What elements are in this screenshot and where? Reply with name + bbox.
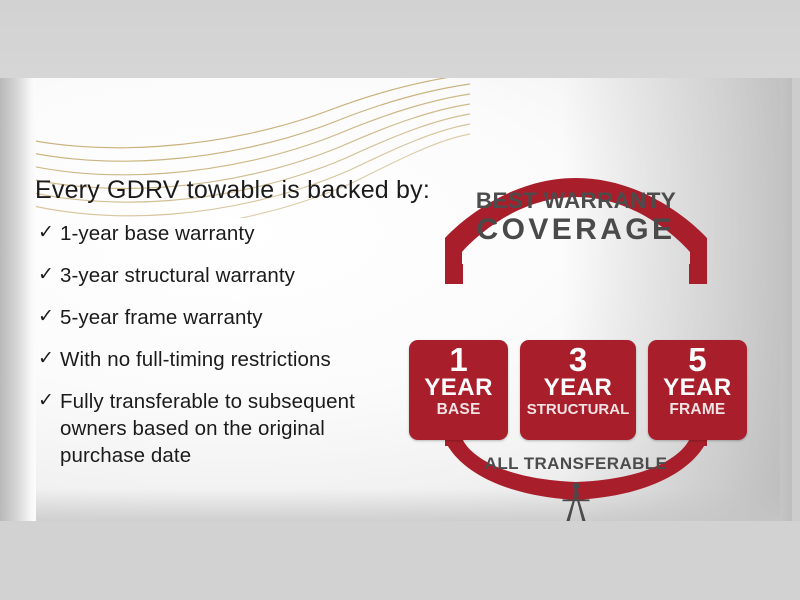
list-item: ✓ With no full-timing restrictions <box>38 346 438 373</box>
warranty-box-unit: YEAR <box>663 376 732 400</box>
warranty-box-number: 5 <box>688 344 706 376</box>
list-item-label: With no full-timing restrictions <box>60 346 331 373</box>
letterbox-top-bar <box>0 0 800 78</box>
list-item-label: Fully transferable to subsequent owners … <box>60 388 412 469</box>
drafting-compass-icon <box>556 480 596 521</box>
image-stage: Every GDRV towable is backed by: ✓ 1-yea… <box>0 0 800 600</box>
warranty-term-boxes: 1 YEAR BASE 3 YEAR STRUCTURAL 5 YEAR FRA… <box>409 340 747 440</box>
warranty-box-frame: 5 YEAR FRAME <box>648 340 747 440</box>
list-item-label: 3-year structural warranty <box>60 262 295 289</box>
checkmark-icon: ✓ <box>38 220 60 246</box>
warranty-box-unit: YEAR <box>544 376 613 400</box>
checkmark-icon: ✓ <box>38 304 60 330</box>
warranty-box-subtitle: FRAME <box>669 400 725 420</box>
warranty-box-number: 1 <box>449 344 467 376</box>
list-item: ✓ 5-year frame warranty <box>38 304 438 331</box>
warranty-text-column: Every GDRV towable is backed by: ✓ 1-yea… <box>0 78 440 521</box>
best-warranty-coverage-badge: BEST WARRANTY COVERAGE 1 YEAR BASE 3 YEA… <box>398 160 754 500</box>
warranty-graphic-panel: Every GDRV towable is backed by: ✓ 1-yea… <box>0 78 792 521</box>
list-item: ✓ 1-year base warranty <box>38 220 438 247</box>
checkmark-icon: ✓ <box>38 346 60 372</box>
panel-right-edge-shading <box>780 78 792 521</box>
list-item-label: 1-year base warranty <box>60 220 255 247</box>
warranty-box-subtitle: BASE <box>437 400 481 420</box>
warranty-bullet-list: ✓ 1-year base warranty ✓ 3-year structur… <box>38 220 438 484</box>
page-title: Every GDRV towable is backed by: <box>35 176 430 205</box>
list-item: ✓ Fully transferable to subsequent owner… <box>38 388 438 469</box>
warranty-box-base: 1 YEAR BASE <box>409 340 508 440</box>
list-item: ✓ 3-year structural warranty <box>38 262 438 289</box>
badge-title-line-2: COVERAGE <box>398 213 754 247</box>
warranty-box-structural: 3 YEAR STRUCTURAL <box>520 340 636 440</box>
badge-title-line-1: BEST WARRANTY <box>398 188 754 214</box>
warranty-box-subtitle: STRUCTURAL <box>527 400 630 420</box>
badge-footer-label: ALL TRANSFERABLE <box>398 454 754 474</box>
checkmark-icon: ✓ <box>38 262 60 288</box>
warranty-box-number: 3 <box>569 344 587 376</box>
checkmark-icon: ✓ <box>38 388 60 414</box>
warranty-box-unit: YEAR <box>424 376 493 400</box>
letterbox-bottom-bar <box>0 521 800 600</box>
list-item-label: 5-year frame warranty <box>60 304 263 331</box>
